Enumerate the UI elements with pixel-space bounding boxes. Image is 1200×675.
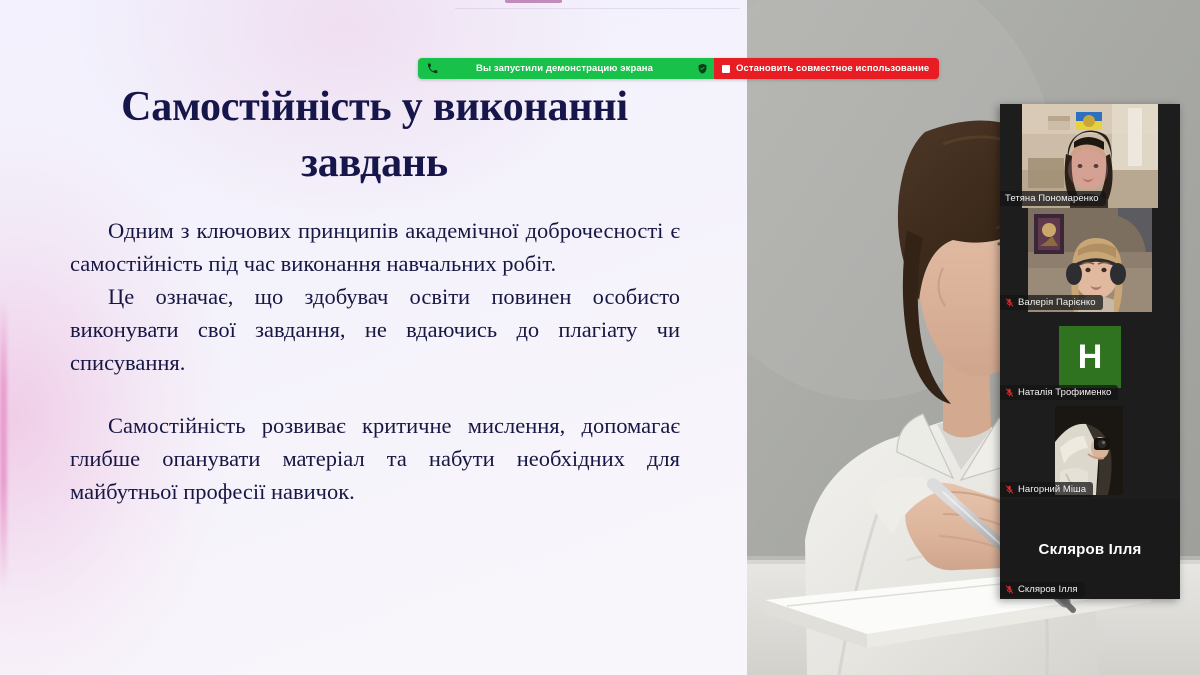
sharing-status-label: Вы запустили демонстрацию экрана <box>444 63 691 74</box>
slide-paragraph-3-text: Самостійність розвиває критичне мислення… <box>70 413 680 504</box>
stop-square-icon <box>722 65 730 73</box>
shield-icon[interactable] <box>697 63 708 74</box>
slide-title: Самостійність у виконанні завдань <box>62 79 687 192</box>
participant-name-row: Тетяна Пономаренко <box>1000 191 1106 206</box>
screen-share-notification-bar[interactable]: Вы запустили демонстрацию экрана Останов… <box>418 58 939 79</box>
participant-name-row: Скляров Ілля <box>1000 582 1085 597</box>
phone-icon <box>427 63 438 74</box>
slide-top-divider <box>455 8 740 9</box>
slide-paragraph-1: Одним з ключових принципів академічної д… <box>70 214 680 280</box>
avatar: Н <box>1059 326 1121 388</box>
sharing-status-segment[interactable]: Вы запустили демонстрацию экрана <box>418 58 714 79</box>
participant-tile-tetyana-ponomarenko[interactable]: Тетяна Пономаренко <box>1000 104 1180 208</box>
slide-paragraph-1-text: Одним з ключових принципів академічної д… <box>70 218 680 276</box>
presentation-slide: Самостійність у виконанні завдань Одним … <box>0 0 747 675</box>
slide-top-accent-bar <box>505 0 562 3</box>
participant-name: Валерія Парієнко <box>1018 297 1096 308</box>
participant-name: Скляров Ілля <box>1018 584 1078 595</box>
participant-name-row: Нагорний Міша <box>1000 482 1093 497</box>
participant-name: Наталія Трофименко <box>1018 387 1111 398</box>
slide-paragraph-2-text: Це означає, що здобувач освіти повинен о… <box>70 284 680 375</box>
participant-name-row: Валерія Парієнко <box>1000 295 1103 310</box>
participant-name: Тетяна Пономаренко <box>1005 193 1099 204</box>
participant-name-row: Наталія Трофименко <box>1000 385 1118 400</box>
slide-body-text: Одним з ключових принципів академічної д… <box>70 214 680 509</box>
microphone-muted-icon <box>1005 387 1014 398</box>
participant-tile-nahornyi-misha[interactable]: Нагорний Міша <box>1000 402 1180 499</box>
microphone-muted-icon <box>1005 584 1014 595</box>
participant-name: Нагорний Міша <box>1018 484 1086 495</box>
participant-video-strip[interactable]: Тетяна Пономаренко <box>1000 104 1180 599</box>
slide-left-accent-band <box>0 300 7 590</box>
slide-paragraph-3: Самостійність розвиває критичне мислення… <box>70 409 680 508</box>
stop-sharing-label: Остановить совместное использование <box>736 63 929 74</box>
participant-tile-nataliia-trofymenko[interactable]: Н Наталія Трофименко <box>1000 312 1180 402</box>
participant-tile-valeriia-pariienko[interactable]: Валерія Парієнко <box>1000 208 1180 312</box>
slide-paragraph-2: Це означає, що здобувач освіти повинен о… <box>70 280 680 379</box>
microphone-muted-icon <box>1005 297 1014 308</box>
stop-sharing-button[interactable]: Остановить совместное использование <box>714 58 939 79</box>
microphone-muted-icon <box>1005 484 1014 495</box>
participant-tile-skliarov-illia[interactable]: Скляров Ілля Скляров Ілля <box>1000 499 1180 599</box>
